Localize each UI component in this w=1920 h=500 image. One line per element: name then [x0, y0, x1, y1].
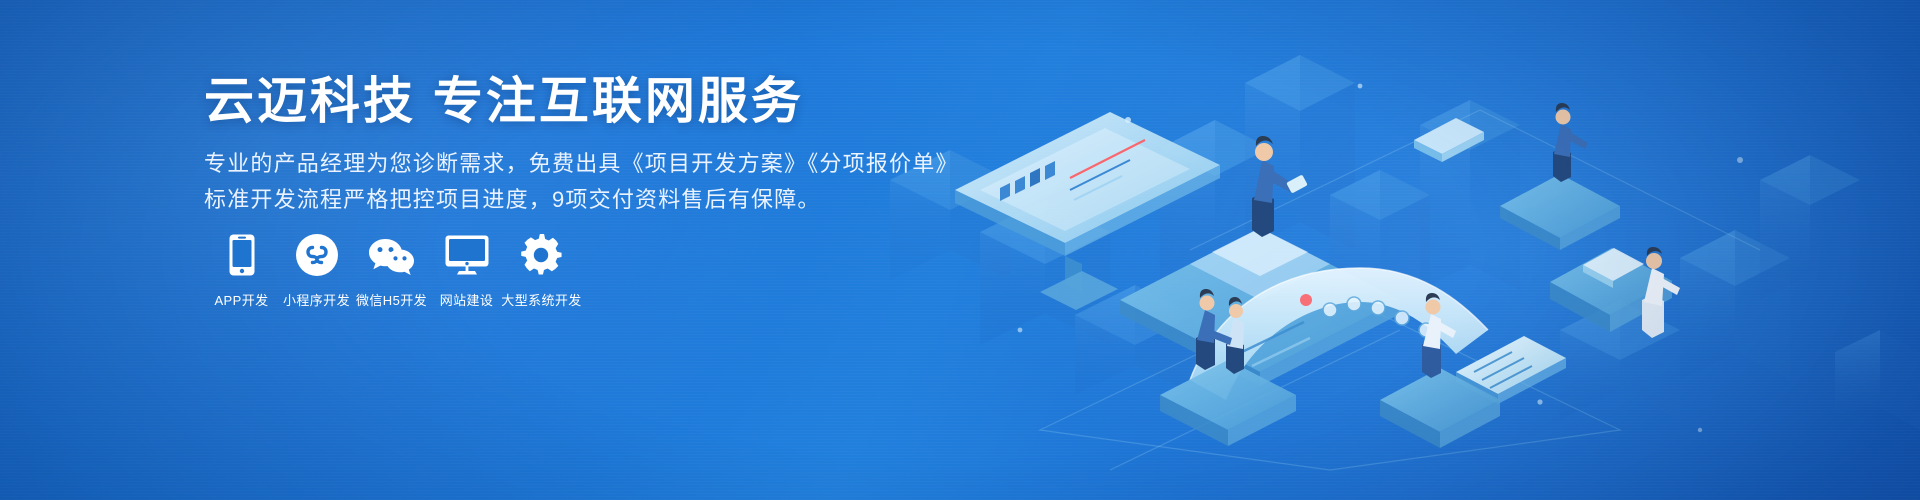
mobile-phone-icon	[229, 232, 255, 278]
service-item-wechat-h5[interactable]: 微信H5开发	[354, 232, 429, 309]
service-item-website[interactable]: 网站建设	[429, 232, 504, 309]
service-item-large-system[interactable]: 大型系统开发	[504, 232, 579, 309]
service-label: 大型系统开发	[501, 290, 581, 309]
gear-icon	[521, 232, 563, 278]
banner-content: 云迈科技 专注互联网服务 专业的产品经理为您诊断需求，免费出具《项目开发方案》《…	[200, 0, 960, 500]
service-label: 微信H5开发	[356, 290, 427, 309]
page-title: 云迈科技 专注互联网服务	[204, 72, 804, 131]
mini-program-icon	[296, 232, 338, 278]
banner-subtitle-line-1: 专业的产品经理为您诊断需求，免费出具《项目开发方案》《分项报价单》	[204, 147, 959, 180]
service-item-app[interactable]: APP开发	[204, 232, 279, 309]
wechat-icon	[368, 232, 416, 278]
isometric-illustration	[860, 0, 1920, 500]
service-list: APP开发 小程序开发	[204, 232, 579, 309]
service-item-miniprogram[interactable]: 小程序开发	[279, 232, 354, 309]
banner-subtitle-line-2: 标准开发流程严格把控项目进度，9项交付资料售后有保障。	[204, 183, 821, 216]
service-label: 小程序开发	[283, 290, 350, 309]
monitor-icon	[445, 232, 489, 278]
marketing-banner: 云迈科技 专注互联网服务 专业的产品经理为您诊断需求，免费出具《项目开发方案》《…	[0, 0, 1920, 500]
service-label: 网站建设	[440, 290, 494, 309]
service-label: APP开发	[214, 290, 268, 309]
